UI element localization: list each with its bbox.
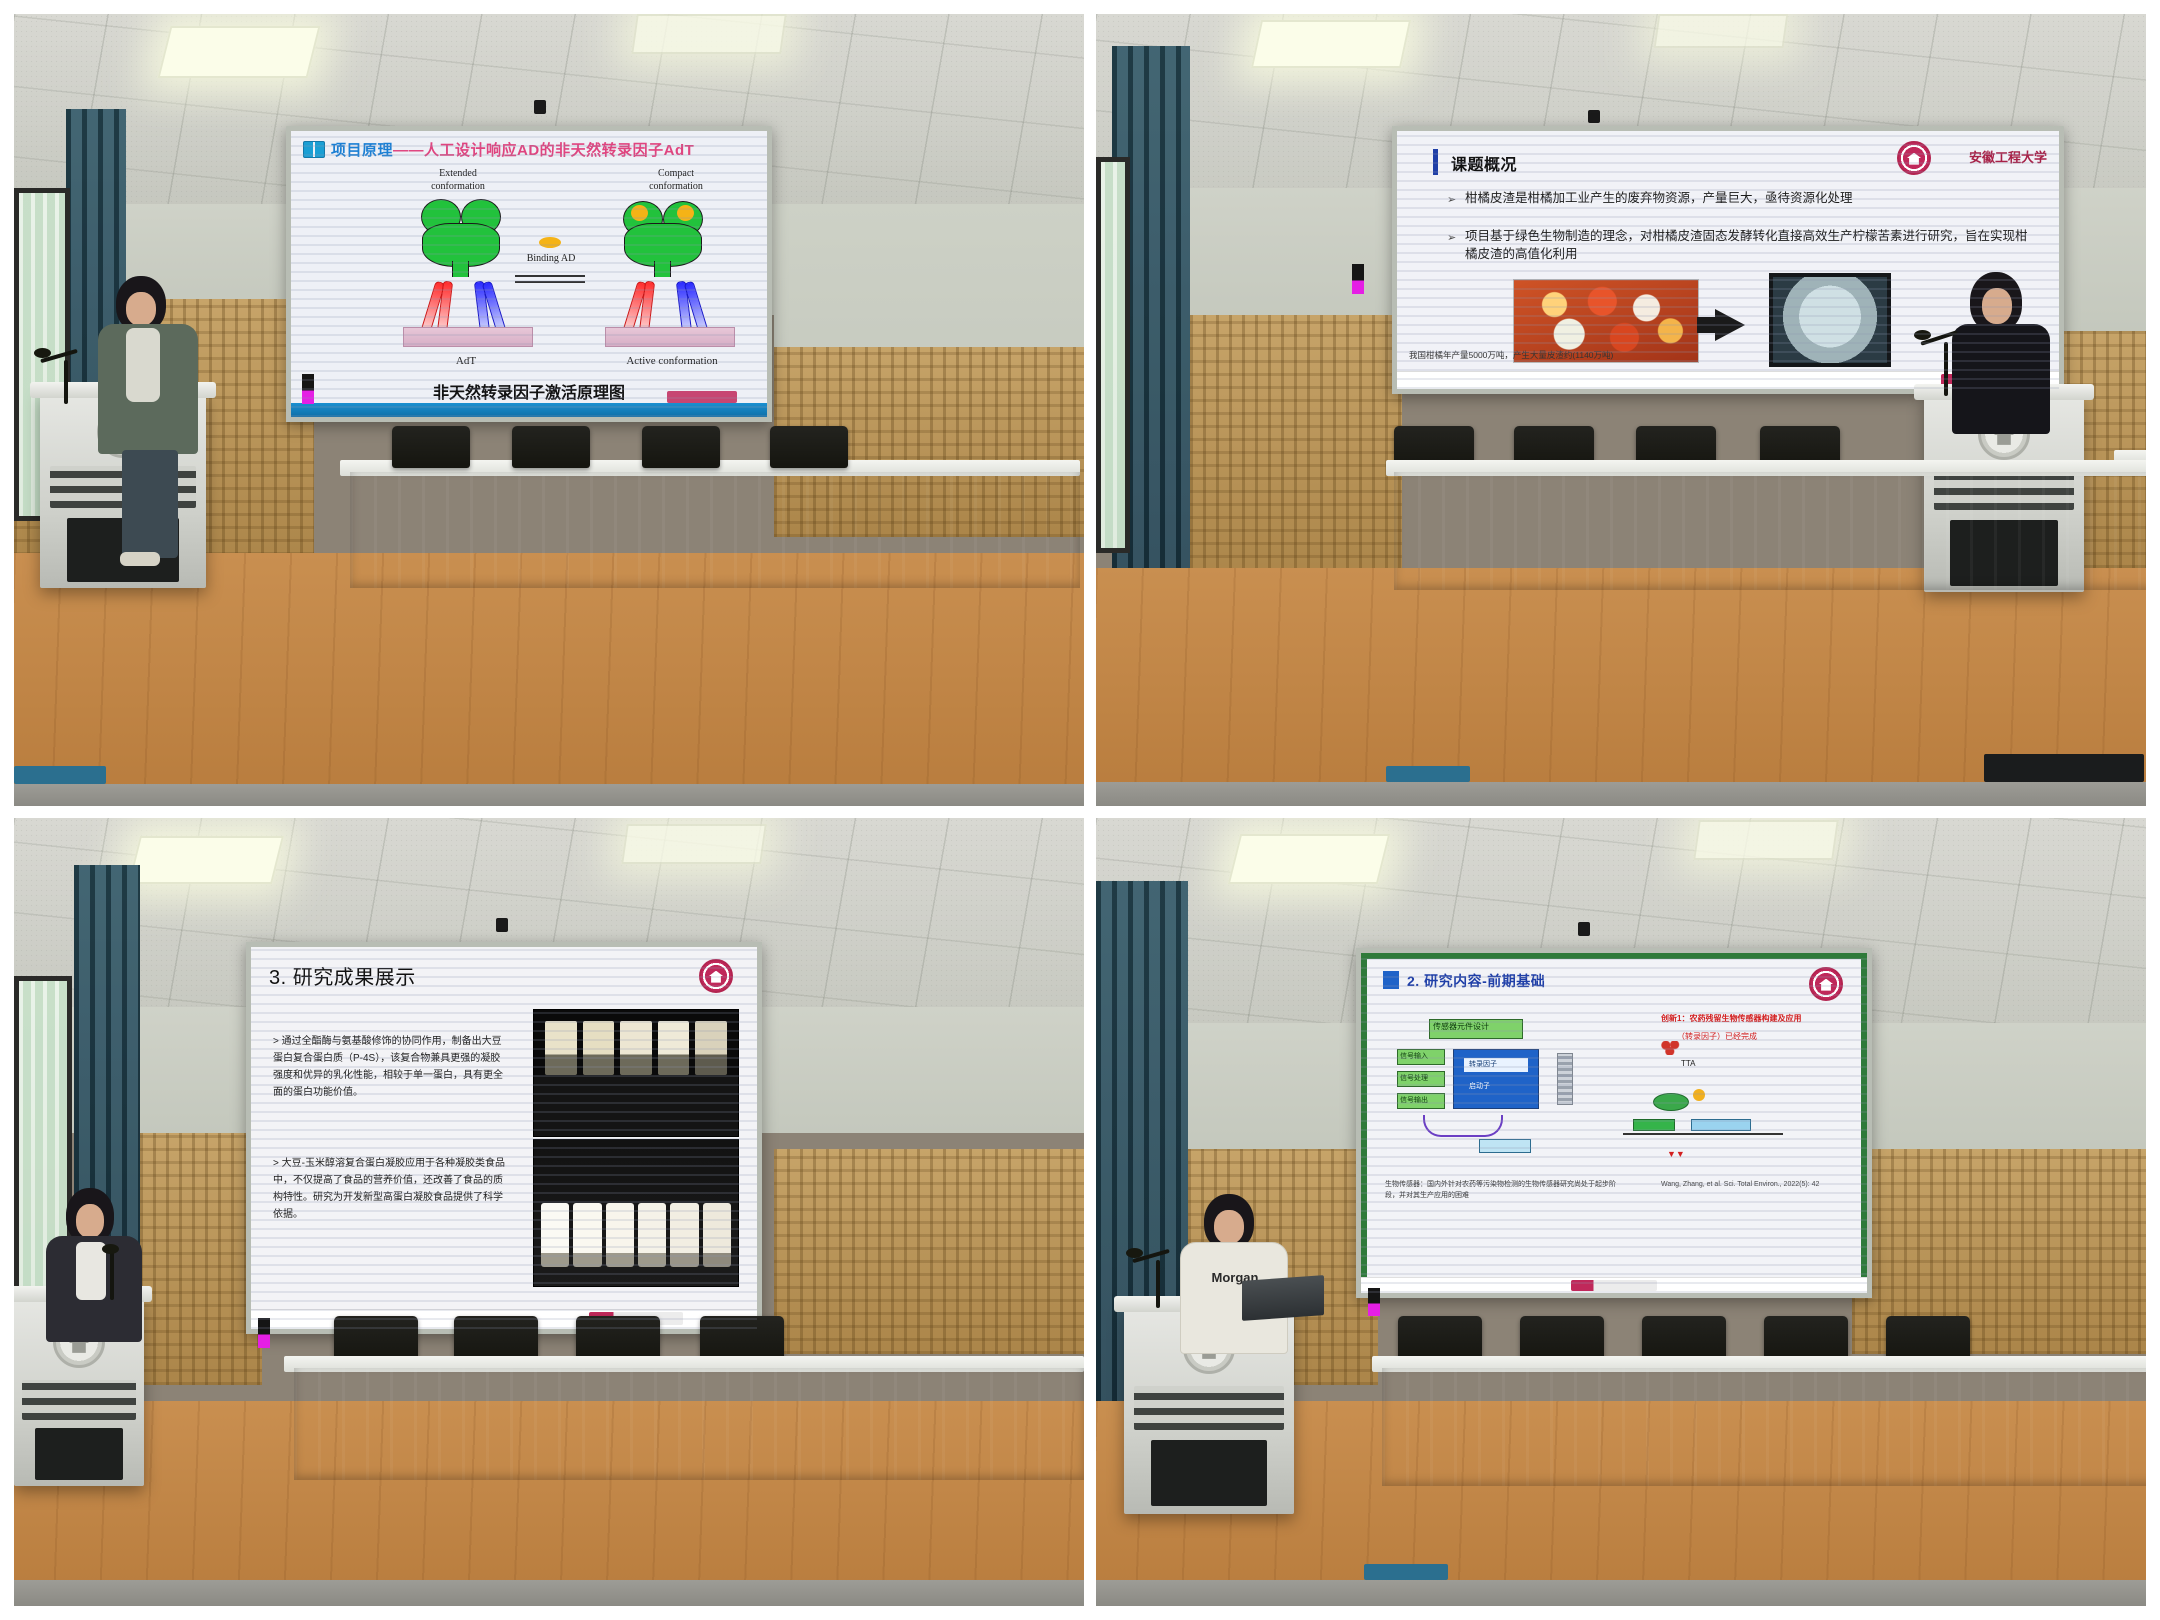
- slide-4-note-sub: （转录因子）已经完成: [1677, 1031, 1757, 1042]
- ceiling-speaker-icon: [1588, 110, 1600, 123]
- screen-surface: 2. 研究内容-前期基础 传感器元件设计 信号输入 信号处理 信号输出 转录因子…: [1361, 953, 1867, 1293]
- ceiling-light: [621, 824, 767, 864]
- diagram-loop-arrow-icon: [1423, 1115, 1503, 1137]
- gel-vial: [658, 1021, 690, 1075]
- slide-4-footnote: 生物传感器：国内外针对农药等污染物检测的生物传感器研究尚处于起步阶段，并对其生产…: [1385, 1179, 1625, 1201]
- screen-side-marker: [1368, 1288, 1380, 1316]
- gel-vial: [583, 1021, 615, 1075]
- slide-content-3: 3. 研究成果展示 > 通过全酯酶与氨基酸修饰的协同作用，制备出大豆蛋白复合蛋白…: [251, 947, 757, 1329]
- podium-slats: [22, 1380, 136, 1420]
- presenter-top-left: [92, 276, 202, 566]
- table-red-cloth: [350, 472, 1080, 588]
- protein-stem: [452, 261, 469, 277]
- presenter-face: [1982, 288, 2012, 324]
- gel-vial-row-top: [545, 1021, 727, 1075]
- protein-right: [621, 199, 707, 283]
- label-binding-ad: Binding AD: [515, 253, 587, 264]
- screen-surface: 3. 研究成果展示 > 通过全酯酶与氨基酸修饰的协同作用，制备出大豆蛋白复合蛋白…: [251, 947, 757, 1329]
- gel-vial: [670, 1203, 698, 1267]
- footer-logo: [667, 391, 737, 403]
- microphone-head-icon: [1126, 1248, 1143, 1258]
- slide-content-1: 项目原理——人工设计响应AD的非天然转录因子AdT 项目原理——人工设计响应AD…: [291, 131, 767, 417]
- bullet-arrow-icon: ➢: [1447, 193, 1456, 206]
- diagram-label-output: 信号输出: [1400, 1095, 1428, 1105]
- university-name: 安徽工程大学: [1969, 147, 2047, 166]
- table-red-cloth: [294, 1368, 1084, 1480]
- photo-panel-top-left: 项目原理——人工设计响应AD的非天然转录因子AdT 项目原理——人工设计响应AD…: [14, 14, 1084, 806]
- wall-weave-right: [774, 1149, 1084, 1354]
- gel-vial: [620, 1021, 652, 1075]
- microphone-stand: [110, 1252, 114, 1300]
- diagram-label-core: 转录因子: [1469, 1059, 1497, 1069]
- monitor-on-floor: [1984, 754, 2144, 782]
- ceiling-light: [1693, 820, 1839, 860]
- ceiling-light: [631, 14, 787, 54]
- presenter-face: [76, 1204, 104, 1238]
- screen-side-marker: [302, 374, 314, 404]
- protein-stem: [654, 261, 671, 277]
- diagram-membrane: [1557, 1053, 1573, 1105]
- dna-line-icon: [1623, 1133, 1783, 1135]
- microphone-head-icon: [102, 1244, 119, 1254]
- gel-vial: [703, 1203, 731, 1267]
- chair: [512, 426, 590, 468]
- wall-weave-panel: [140, 1133, 262, 1385]
- diagram-label-core-sub: 启动子: [1469, 1081, 1490, 1091]
- diagram-label-input: 信号输入: [1400, 1051, 1428, 1061]
- screen-surface: 项目原理——人工设计响应AD的非天然转录因子AdT 项目原理——人工设计响应AD…: [291, 131, 767, 417]
- open-book-icon: [303, 141, 325, 158]
- table-red-cloth-2: [1394, 472, 2146, 590]
- ceiling-speaker-icon: [534, 100, 546, 114]
- slide-4-citation: Wang, Zhang, et al. Sci. Total Environ.,…: [1661, 1181, 1819, 1188]
- gene-block: [1691, 1119, 1751, 1131]
- microphone-stand: [1156, 1260, 1160, 1308]
- ceiling-light: [158, 26, 321, 78]
- stage-edge: [1096, 1580, 2146, 1606]
- dna-bar-left: [403, 327, 533, 347]
- slide-footer-band: [291, 403, 767, 417]
- slide-4-note-tag: TTA: [1681, 1059, 1696, 1068]
- label-adt: AdT: [431, 355, 501, 367]
- slide-content-4: 2. 研究内容-前期基础 传感器元件设计 信号输入 信号处理 信号输出 转录因子…: [1361, 953, 1867, 1293]
- ligand-bound-icon: [631, 205, 648, 221]
- ligand-bound-icon: [677, 205, 694, 221]
- floor: [14, 553, 1084, 806]
- slide-3-title: 3. 研究成果展示: [269, 961, 416, 990]
- laptop-on-podium: [1242, 1275, 1324, 1321]
- promoter-block: [1633, 1119, 1675, 1131]
- equilibrium-arrow-icon: [515, 273, 585, 285]
- petri-dish-photo: [1769, 273, 1891, 367]
- presenter-shoe: [120, 552, 160, 566]
- footer-logo: [1571, 1280, 1657, 1291]
- presenter-face: [126, 292, 156, 326]
- stage-edge: [14, 784, 1084, 806]
- bullet-arrow-icon: ➢: [1447, 231, 1456, 244]
- ligand-ad-icon: [539, 237, 561, 248]
- title-bar: [1383, 971, 1399, 989]
- laptop-on-floor: [1386, 766, 1470, 782]
- stage-edge: [14, 1580, 1084, 1606]
- screen-side-marker: [1352, 264, 1364, 294]
- presenter-bottom-left: [44, 1188, 154, 1348]
- podium-lower-panel: [1151, 1440, 1267, 1506]
- presenter-body: [1952, 324, 2050, 434]
- slide-4-note-title: 创新1：农药残留生物传感器构建及应用: [1661, 1013, 1801, 1024]
- microphone-head-icon: [1914, 330, 1931, 340]
- microphone-stand: [1944, 342, 1948, 396]
- tf-protein-icon: [1653, 1093, 1689, 1111]
- label-compact-conformation: Compact conformation: [621, 167, 731, 193]
- wall-weave-panel: [1190, 315, 1402, 584]
- gel-vial: [638, 1203, 666, 1267]
- projection-screen: 2. 研究内容-前期基础 传感器元件设计 信号输入 信号处理 信号输出 转录因子…: [1356, 948, 1872, 1298]
- ceiling-speaker-icon: [1578, 922, 1590, 936]
- ceiling-speaker-icon: [496, 918, 508, 932]
- paragraph-marker: >: [273, 1158, 282, 1169]
- slide-4-title: 2. 研究内容-前期基础: [1407, 971, 1545, 991]
- photo-panel-bottom-right: 2. 研究内容-前期基础 传感器元件设计 信号输入 信号处理 信号输出 转录因子…: [1096, 818, 2146, 1606]
- microphone-head-icon: [34, 348, 51, 358]
- label-extended-conformation: Extended conformation: [403, 167, 513, 193]
- dna-bar-right: [605, 327, 735, 347]
- diagram-label-process: 信号处理: [1400, 1073, 1428, 1083]
- chair: [770, 426, 848, 468]
- screen-side-marker: [258, 1318, 270, 1348]
- presenter-face: [1214, 1210, 1244, 1244]
- slide-1-title: 项目原理——人工设计响应AD的非天然转录因子AdT 项目原理——人工设计响应AD…: [331, 139, 694, 160]
- gel-vial: [541, 1203, 569, 1267]
- gel-vial: [545, 1021, 577, 1075]
- slide-2-bullet-2: 项目基于绿色生物制造的理念，对柑橘皮渣固态发酵转化直接高效生产柠檬苦素进行研究，…: [1465, 227, 2033, 263]
- stage-edge: [1096, 782, 2146, 806]
- protein-left: [419, 199, 505, 283]
- diagram-block-aux: [1479, 1139, 1531, 1153]
- gel-vial: [695, 1021, 727, 1075]
- gel-vial-row-bottom: [541, 1203, 731, 1267]
- gel-vial: [573, 1203, 601, 1267]
- window: [1096, 157, 1130, 553]
- slide-3-paragraph-2: > 大豆-玉米醇溶复合蛋白凝胶应用于各种凝胶类食品中，不仅提高了食品的营养价值，…: [273, 1155, 507, 1223]
- paragraph-marker: >: [273, 1036, 282, 1047]
- slide-3-paragraph-1: > 通过全酯酶与氨基酸修饰的协同作用，制备出大豆蛋白复合蛋白质（P-4S），该复…: [273, 1033, 507, 1101]
- photo-panel-top-right: 课题概况 安徽工程大学 ➢ 柑橘皮渣是柑橘加工业产生的废弃物资源，产量巨大，亟待…: [1096, 14, 2146, 806]
- ceiling-light: [128, 836, 284, 884]
- projection-screen: 项目原理——人工设计响应AD的非天然转录因子AdT 项目原理——人工设计响应AD…: [286, 126, 772, 422]
- laptop-on-floor: [1364, 1564, 1448, 1580]
- ceiling-light: [1228, 834, 1390, 884]
- slide-2-bullet-1: 柑橘皮渣是柑橘加工业产生的废弃物资源，产量巨大，亟待资源化处理: [1465, 189, 2033, 207]
- microphone-stand: [64, 360, 68, 404]
- arrow-right-tail: [1697, 317, 1719, 333]
- laptop-on-floor: [14, 766, 106, 784]
- projection-screen: 3. 研究成果展示 > 通过全酯酶与氨基酸修饰的协同作用，制备出大豆蛋白复合蛋白…: [246, 942, 762, 1334]
- ceiling-light: [1251, 20, 1411, 68]
- chair: [642, 426, 720, 468]
- gel-vial: [606, 1203, 634, 1267]
- podium-slats: [1134, 1386, 1284, 1430]
- table-red-cloth: [1382, 1368, 2146, 1486]
- uni-logo-mark: [1809, 967, 1843, 1001]
- uni-logo-mark: [1897, 141, 1931, 175]
- uni-logo-mark: [699, 959, 733, 993]
- ceiling-light: [1654, 14, 1789, 48]
- presenter-top-right: [1944, 272, 2054, 432]
- presenter-inner-shirt: [126, 328, 160, 402]
- molecule-cluster-icon: [1661, 1041, 1683, 1055]
- title-marker-bar: [1433, 149, 1438, 175]
- chair: [392, 426, 470, 468]
- slide-2-footnote: 我国柑橘年产量5000万吨，产生大量皮渣约(1140万吨): [1409, 349, 1613, 361]
- podium-lower-panel: [35, 1428, 123, 1480]
- label-active-conformation: Active conformation: [607, 355, 737, 367]
- photo-panel-bottom-left: 3. 研究成果展示 > 通过全酯酶与氨基酸修饰的协同作用，制备出大豆蛋白复合蛋白…: [14, 818, 1084, 1606]
- arrow-right-icon: [1715, 309, 1745, 341]
- ligand-dot-icon: [1693, 1089, 1705, 1101]
- expression-arrow-label: ▼▼: [1667, 1149, 1685, 1159]
- presenter-legs: [122, 450, 178, 558]
- photo-collage: 项目原理——人工设计响应AD的非天然转录因子AdT 项目原理——人工设计响应AD…: [0, 0, 2160, 1620]
- slide-2-title: 课题概况: [1451, 151, 1517, 175]
- diagram-label-sensor-design: 传感器元件设计: [1433, 1021, 1489, 1032]
